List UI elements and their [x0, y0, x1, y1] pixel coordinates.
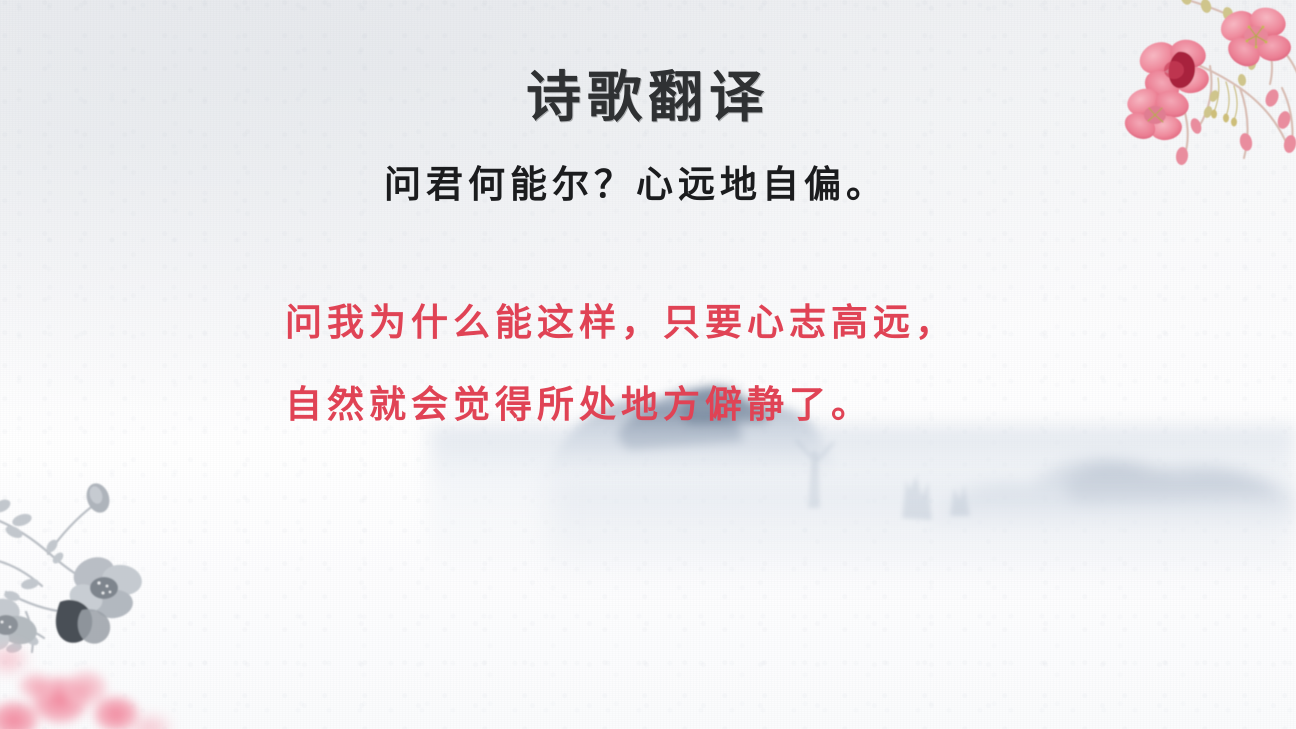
translation-block: 问我为什么能这样，只要心志高远， 自然就会觉得所处地方僻静了。	[285, 282, 1125, 446]
page-title: 诗歌翻译	[0, 52, 1296, 132]
original-poem-line: 问君何能尔？心远地自偏。	[0, 154, 1296, 208]
translation-line-1: 问我为什么能这样，只要心志高远，	[285, 282, 1125, 364]
poetry-translation-slide: 诗歌翻译 问君何能尔？心远地自偏。 问我为什么能这样，只要心志高远， 自然就会觉…	[0, 0, 1296, 729]
translation-line-2: 自然就会觉得所处地方僻静了。	[285, 364, 1125, 446]
